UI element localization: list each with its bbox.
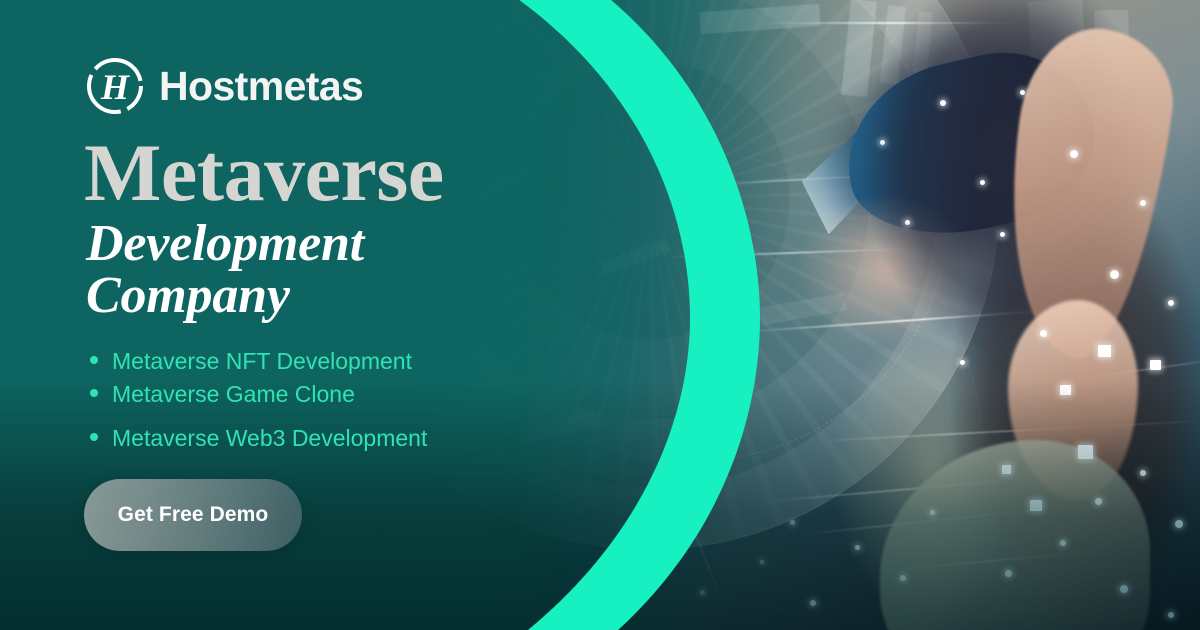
- list-item: Metaverse Web3 Development: [84, 422, 427, 455]
- service-label: Metaverse Web3 Development: [112, 422, 427, 455]
- get-free-demo-button[interactable]: Get Free Demo: [84, 479, 302, 551]
- bullet-dot-icon: [90, 433, 98, 441]
- headline-line-1: Metaverse: [84, 133, 444, 213]
- headline-line-3: Company: [86, 269, 444, 323]
- content-column: H Hostmetas Metaverse Development Compan…: [84, 0, 704, 630]
- headline-block: Metaverse Development Company: [84, 133, 444, 323]
- brand-logo[interactable]: H Hostmetas: [84, 55, 363, 117]
- services-list: Metaverse NFT Development Metaverse Game…: [84, 345, 427, 455]
- brand-name: Hostmetas: [159, 66, 363, 107]
- headline-line-2: Development: [86, 217, 444, 271]
- bullet-dot-icon: [90, 389, 98, 397]
- list-item: Metaverse Game Clone: [84, 378, 427, 411]
- list-item: Metaverse NFT Development: [84, 345, 427, 378]
- promo-banner: H Hostmetas Metaverse Development Compan…: [0, 0, 1200, 630]
- svg-text:H: H: [100, 67, 130, 107]
- service-label: Metaverse NFT Development: [112, 345, 412, 378]
- service-label: Metaverse Game Clone: [112, 378, 355, 411]
- hostmetas-circle-h-icon: H: [84, 55, 146, 117]
- bullet-dot-icon: [90, 356, 98, 364]
